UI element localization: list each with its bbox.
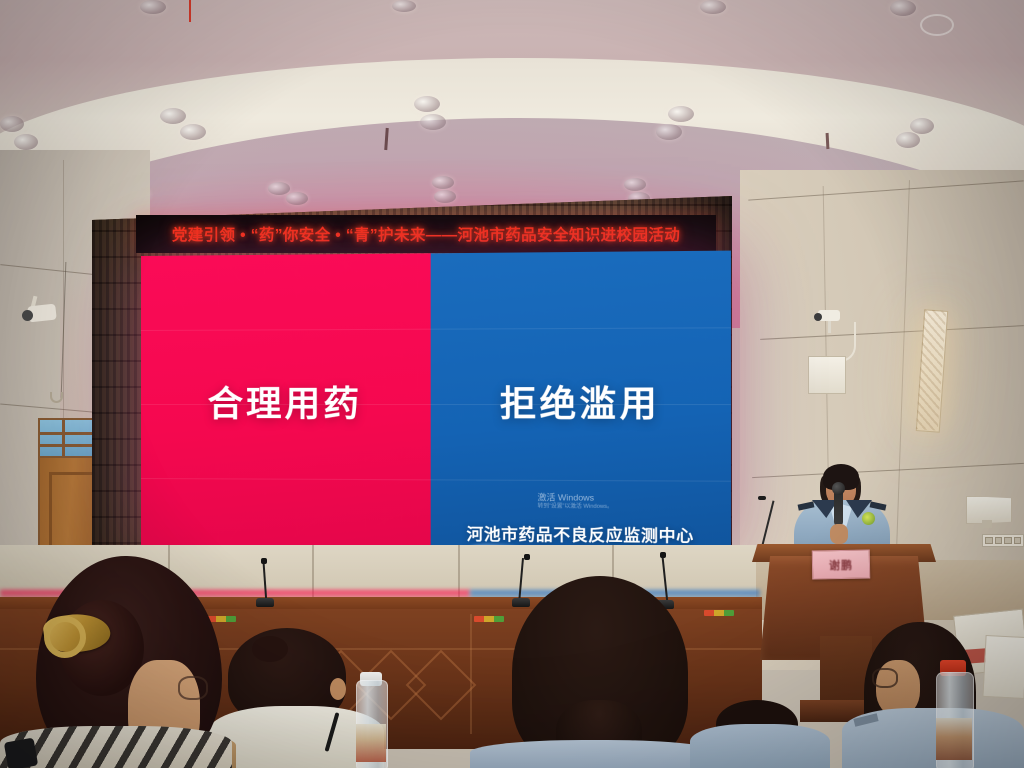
wall-speaker-mount [982, 520, 992, 528]
downlight-icon [14, 134, 38, 150]
microphone-head-icon [660, 552, 666, 558]
downlight-ring-icon [920, 14, 954, 36]
equipment-box [808, 356, 846, 394]
microphone-head-icon [832, 482, 845, 495]
light-switch-panel[interactable] [982, 534, 1024, 547]
podium-name-card: 谢鹏 [812, 549, 870, 579]
downlight-icon [286, 192, 308, 205]
slide-heading-right: 拒绝滥用 [431, 375, 731, 428]
led-screen: 合理用药 拒绝滥用 激活 Windows 转到“设置”以激活 Windows。 … [141, 251, 731, 558]
downlight-icon [890, 0, 916, 16]
attendee-hair-bun [252, 636, 288, 662]
attendee-body [470, 740, 720, 768]
switch-key[interactable] [985, 537, 993, 544]
downlight-icon [668, 106, 694, 122]
downlight-icon [624, 178, 646, 191]
downlight-icon [432, 176, 454, 189]
downlight-icon [434, 190, 456, 203]
downlight-icon [910, 118, 934, 134]
slide-organization-name: 河池市药品不良反应监测中心 [431, 520, 731, 547]
switch-key[interactable] [995, 537, 1003, 544]
bottle-label [936, 718, 972, 760]
smartphone-icon[interactable] [4, 738, 38, 768]
downlight-icon [140, 0, 166, 14]
slide-heading-left: 合理用药 [141, 375, 431, 427]
microphone-head-icon [524, 554, 530, 560]
downlight-icon [896, 132, 920, 148]
transom-bar [62, 420, 65, 456]
downlight-icon [420, 114, 446, 130]
downlight-icon [160, 108, 186, 124]
downlight-icon [414, 96, 440, 112]
camera-lens-icon [22, 310, 33, 321]
attendee-ear [330, 678, 346, 700]
downlight-icon [656, 124, 682, 140]
bottle-label [356, 724, 386, 762]
ceiling-red-cord [189, 0, 191, 22]
downlight-icon [700, 0, 726, 14]
microphone-base [256, 598, 274, 607]
attendee-uniform-center-right [690, 724, 830, 768]
glasses-icon [178, 676, 208, 700]
downlight-icon [180, 124, 206, 140]
switch-key[interactable] [1004, 537, 1012, 544]
downlight-icon [392, 0, 416, 12]
led-banner-text: 党建引领 • “药”你安全 • “青”护未来——河池市药品安全知识进校园活动 [172, 223, 680, 245]
desk-indicator-lights [704, 610, 734, 616]
speaker-hand [830, 524, 848, 544]
name-card-text: 谢鹏 [829, 556, 853, 572]
microphone-head-icon [261, 558, 267, 564]
watermark-subtitle: 转到“设置”以激活 Windows。 [538, 504, 654, 512]
windows-activation-watermark: 激活 Windows 转到“设置”以激活 Windows。 [538, 492, 654, 512]
led-banner: 党建引领 • “药”你安全 • “青”护未来——河池市药品安全知识进校园活动 [136, 215, 716, 253]
conference-hall-photo: 党建引领 • “药”你安全 • “青”护未来——河池市药品安全知识进校园活动 合… [0, 0, 1024, 768]
downlight-icon [0, 116, 24, 132]
microphone-base [512, 598, 530, 607]
downlight-icon [268, 182, 290, 195]
documents-stack [982, 635, 1024, 699]
glasses-icon [872, 668, 898, 688]
speaker-badge-icon [862, 512, 875, 525]
switch-key[interactable] [1014, 537, 1022, 544]
camera-lens-icon [814, 313, 822, 321]
desk-trim-line [470, 614, 472, 734]
desk-indicator-lights [474, 616, 504, 622]
podium-microphone-head-icon [758, 496, 766, 500]
